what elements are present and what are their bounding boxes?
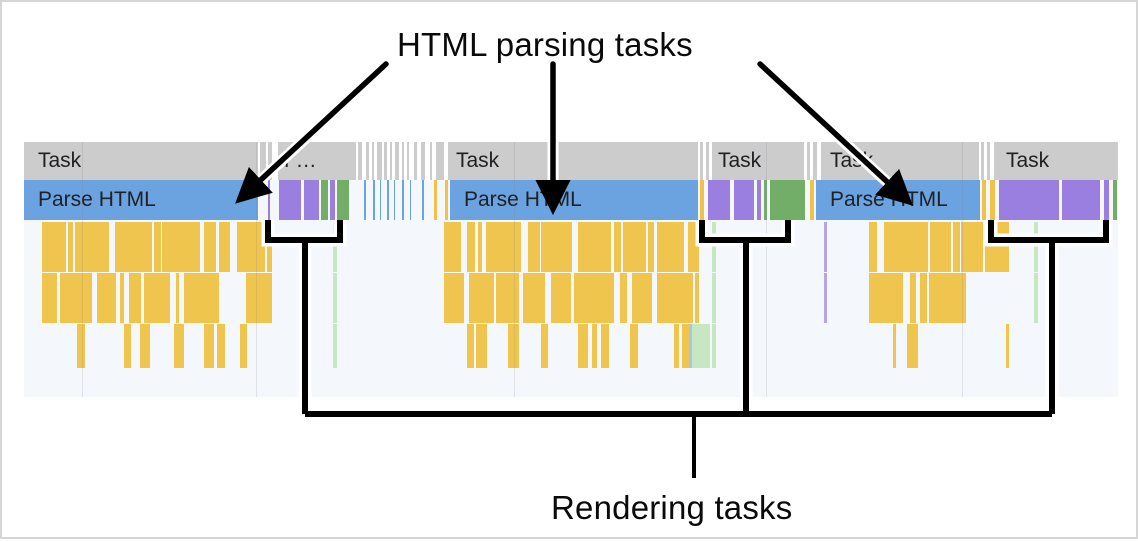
timeline-event-purple[interactable] [268,180,270,220]
timeline-gridline [514,142,515,397]
timeline-event-yellow[interactable] [990,180,995,220]
main-thread-track[interactable]: Parse HTMLParse HTMLParse HTML [24,180,1118,220]
timeline-gridline [962,142,963,397]
flame-bar[interactable] [953,222,960,272]
task-segment[interactable] [366,142,369,180]
flame-bar[interactable] [467,222,475,272]
flame-bar[interactable] [496,273,519,323]
flame-bar[interactable] [267,222,272,272]
flame-bar[interactable] [486,222,521,272]
flame-bar[interactable] [920,273,927,323]
task-segment[interactable] [436,142,444,180]
task-segment[interactable] [700,142,703,180]
timeline-event-blue[interactable] [422,180,424,220]
timeline-gridline [82,142,83,397]
flame-bar[interactable] [204,222,216,272]
task-segment[interactable] [260,142,266,180]
flame-bar-accent[interactable] [824,222,827,272]
flame-bar[interactable] [541,222,572,272]
timeline-event-purple[interactable] [279,180,301,220]
annotation-html-parsing-tasks: HTML parsing tasks [397,26,693,64]
flame-bar[interactable] [120,273,124,323]
timeline-event-blue[interactable] [373,180,375,220]
task-segment-label: Γ… [284,149,317,173]
flame-bar[interactable] [219,222,230,272]
task-segment[interactable] [372,142,374,180]
screenshot-frame: HTML parsing tasks Rendering tasks TaskΓ… [0,0,1138,539]
task-segment-label: Task [718,149,761,173]
flame-bar-accent[interactable] [689,324,692,368]
flame-bar[interactable] [240,324,247,368]
flame-bar[interactable] [115,222,152,272]
flame-bar[interactable] [648,222,654,272]
timeline-event-green[interactable] [321,180,328,220]
task-segment[interactable] [430,142,432,180]
task-segment-label: Task [38,149,81,173]
flame-row-2[interactable] [24,273,1118,323]
task-segment[interactable] [706,142,709,180]
flame-bar[interactable] [869,222,877,272]
flame-bar-accent[interactable] [712,324,716,368]
flame-bar[interactable] [60,273,92,323]
timeline-event-purple[interactable] [1104,180,1109,220]
task-segment[interactable] [813,142,817,180]
flame-bar[interactable] [469,273,494,323]
flame-bar[interactable] [893,324,896,368]
flame-row-3[interactable] [24,324,1118,368]
flame-bar[interactable] [42,273,57,323]
task-segment[interactable] [402,142,404,180]
flame-bar[interactable] [176,273,179,323]
flame-bar[interactable] [961,222,983,272]
flame-bar[interactable] [623,222,646,272]
timeline-event-purple[interactable] [708,180,730,220]
task-segment[interactable] [421,142,425,180]
timeline-event-blue[interactable] [410,180,411,220]
flame-bar[interactable] [985,222,1009,272]
rendering-connector [305,414,1052,478]
flame-bar[interactable] [162,222,200,272]
flame-bar[interactable] [695,273,699,323]
flame-bar[interactable] [630,324,638,368]
flame-bar[interactable] [129,273,141,323]
flame-bar[interactable] [68,222,73,272]
flame-bar[interactable] [620,273,627,323]
flame-bar[interactable] [217,324,225,368]
flame-bar-accent[interactable] [1034,273,1038,323]
timeline-event-blue[interactable] [402,180,404,220]
timeline-event-purple[interactable] [734,180,754,220]
timeline-event-label: Parse HTML [464,188,582,212]
timeline-event-purple[interactable] [999,180,1059,220]
task-segment[interactable] [807,142,810,180]
flame-bar[interactable] [77,324,85,368]
task-segment[interactable] [384,142,387,180]
flame-bar-accent[interactable] [824,273,827,323]
task-segment-label: Task [1006,149,1049,173]
flame-bar[interactable] [184,273,219,323]
flame-bar[interactable] [444,222,461,272]
flame-bar[interactable] [523,273,545,323]
timeline-event-purple[interactable] [304,180,319,220]
flame-bar[interactable] [929,273,966,323]
timeline-event-yellow[interactable] [434,180,437,220]
flame-bar[interactable] [444,273,464,323]
flame-bar[interactable] [42,222,66,272]
flame-bar-accent[interactable] [712,222,716,272]
flame-bar[interactable] [174,324,184,368]
flame-bar-accent[interactable] [333,222,337,272]
task-segment[interactable] [390,142,392,180]
performance-timeline-panel[interactable]: TaskΓ…TaskTaskTaskTask Parse HTMLParse H… [24,142,1118,397]
annotation-rendering-tasks: Rendering tasks [551,489,792,527]
timeline-event-green[interactable] [1113,180,1117,220]
timeline-event-yellow[interactable] [810,180,814,220]
task-segment[interactable] [377,142,382,180]
flame-bar[interactable] [124,324,131,368]
flame-bar[interactable] [154,222,161,272]
task-segment[interactable] [358,142,362,180]
flame-bar[interactable] [578,324,588,368]
task-segment[interactable] [987,142,990,180]
flame-bar[interactable] [476,324,487,368]
task-segment[interactable] [414,142,417,180]
timeline-event-green[interactable] [337,180,349,220]
flame-bar[interactable] [884,222,928,272]
flame-bar[interactable] [614,222,621,272]
task-segment[interactable] [268,142,272,180]
timeline-event-blue[interactable] [394,180,395,220]
flame-bar[interactable] [657,273,693,323]
timeline-event-parse[interactable]: Parse HTML [816,180,980,220]
timeline-gridline [766,142,767,397]
timeline-event-parse[interactable]: Parse HTML [450,180,698,220]
task-segment[interactable] [981,142,984,180]
flame-bar[interactable] [140,324,150,368]
timeline-event-purple[interactable] [330,180,335,220]
flame-bar[interactable] [601,324,609,368]
timeline-gridline [256,142,257,397]
flame-bar[interactable] [578,222,611,272]
flame-bar[interactable] [144,273,170,323]
flame-bar[interactable] [657,222,684,272]
timeline-event-blue[interactable] [387,180,389,220]
timeline-event-purple[interactable] [757,180,761,220]
flame-row-1[interactable] [24,222,1118,272]
flame-bar-accent[interactable] [1034,222,1038,272]
flame-bar[interactable] [551,273,571,323]
timeline-event-label: Parse HTML [38,188,156,212]
flame-bar[interactable] [541,324,548,368]
flame-bar[interactable] [632,273,652,323]
flame-bar[interactable] [237,222,265,272]
flame-bar-accent[interactable] [333,324,337,368]
timeline-event-green[interactable] [770,180,805,220]
flame-bar[interactable] [910,273,916,323]
flame-bar-accent[interactable] [333,273,337,323]
task-segment-label: Task [456,149,499,173]
timeline-event-blue[interactable] [380,180,381,220]
flame-bar[interactable] [869,273,903,323]
flame-bar[interactable] [592,324,597,368]
task-segment[interactable] [395,142,399,180]
flame-bar[interactable] [204,324,214,368]
flame-bar[interactable] [97,273,116,323]
timeline-event-yellow[interactable] [982,180,986,220]
task-segment[interactable] [407,142,409,180]
timeline-event-purple[interactable] [1062,180,1100,220]
task-segment-label: Task [830,149,873,173]
flame-bar[interactable] [528,222,540,272]
flame-bar[interactable] [1006,324,1009,368]
timeline-event-parse[interactable]: Parse HTML [24,180,258,220]
timeline-event-yellow[interactable] [445,180,448,220]
flame-bar[interactable] [75,222,109,272]
flame-bar[interactable] [574,273,614,323]
timeline-event-yellow[interactable] [700,180,704,220]
timeline-event-label: Parse HTML [830,188,948,212]
flame-bar[interactable] [907,324,918,368]
timeline-event-blue[interactable] [364,180,366,220]
flame-bar[interactable] [930,222,951,272]
flame-bar[interactable] [688,222,699,272]
flame-bar-accent[interactable] [692,324,710,368]
flame-bar[interactable] [674,324,679,368]
task-track[interactable]: TaskΓ…TaskTaskTaskTask [24,142,1118,180]
flame-bar-accent[interactable] [712,273,716,323]
flame-bar[interactable] [478,222,482,272]
flame-bar[interactable] [246,273,272,323]
flame-bar[interactable] [467,324,474,368]
